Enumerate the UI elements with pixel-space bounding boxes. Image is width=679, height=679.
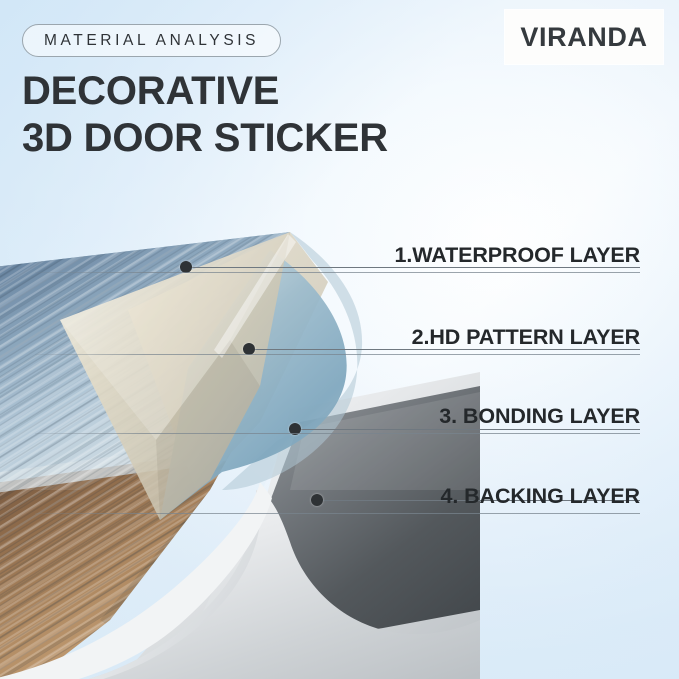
brand-name: VIRANDA [520, 22, 647, 53]
title-line-2: 3D DOOR STICKER [22, 115, 388, 162]
callout-label-4: 4. BACKING LAYER [440, 484, 640, 509]
product-infographic: MATERIAL ANALYSIS DECORATIVE 3D DOOR STI… [0, 0, 679, 679]
callout-label-2: 2.HD PATTERN LAYER [412, 325, 640, 350]
brand-logo-box: VIRANDA [505, 10, 663, 64]
eyebrow-badge: MATERIAL ANALYSIS [22, 24, 281, 57]
callout-label-3: 3. BONDING LAYER [439, 404, 640, 429]
title-line-1: DECORATIVE [22, 68, 388, 115]
callout-rule-2 [35, 354, 640, 355]
callout-label-1: 1.WATERPROOF LAYER [395, 243, 640, 268]
leader-dot-4 [311, 494, 323, 506]
leader-line-3 [300, 429, 640, 430]
page-title: DECORATIVE 3D DOOR STICKER [22, 68, 388, 162]
callout-rule-3 [35, 433, 640, 434]
callout-rule-1 [35, 272, 640, 273]
callout-rule-4 [35, 513, 640, 514]
eyebrow-text: MATERIAL ANALYSIS [44, 32, 259, 50]
